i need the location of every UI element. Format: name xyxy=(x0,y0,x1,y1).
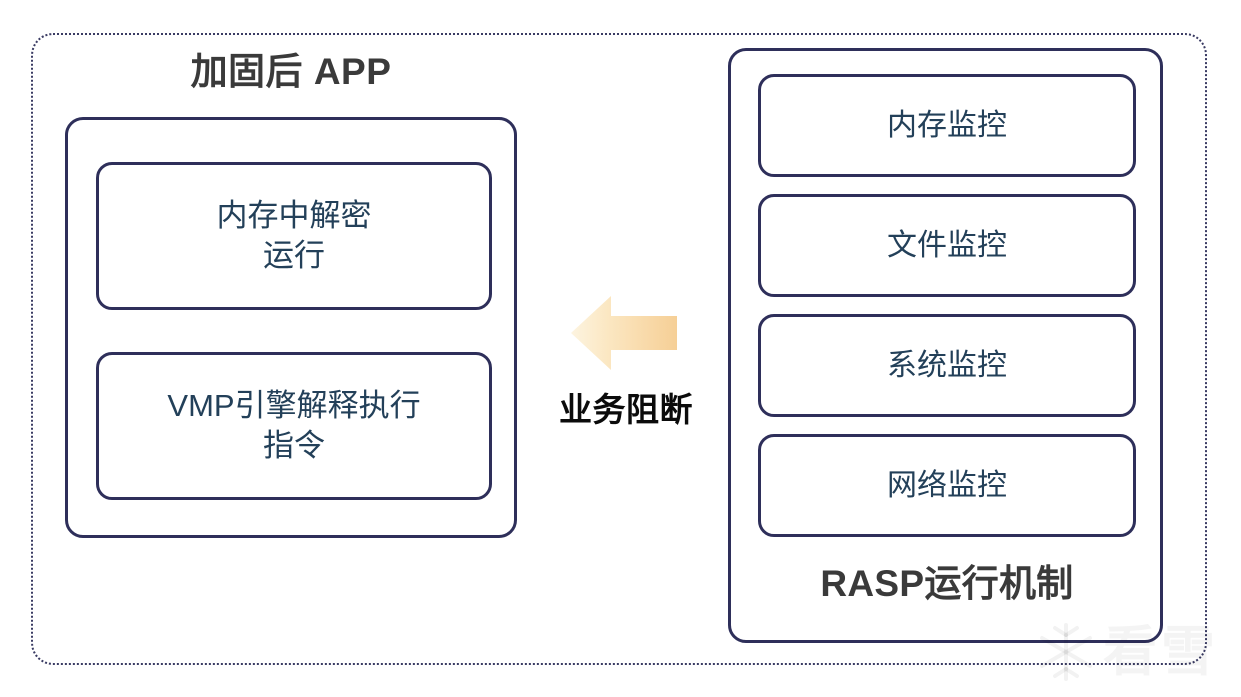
card-memory-decrypt[interactable]: 内存中解密 运行 xyxy=(96,162,492,310)
card-file-monitor[interactable]: 文件监控 xyxy=(758,194,1136,297)
card-memory-monitor-label: 内存监控 xyxy=(887,108,1007,144)
card-network-monitor[interactable]: 网络监控 xyxy=(758,434,1136,537)
connector-label: 业务阻断 xyxy=(531,383,721,431)
card-memory-monitor[interactable]: 内存监控 xyxy=(758,74,1136,177)
left-arrow-icon xyxy=(571,294,677,372)
right-section-title: RASP运行机制 xyxy=(758,553,1136,607)
card-vmp-engine[interactable]: VMP引擎解释执行 指令 xyxy=(96,352,492,500)
card-system-monitor[interactable]: 系统监控 xyxy=(758,314,1136,417)
rasp-panel: 内存监控 文件监控 系统监控 网络监控 RASP运行机制 xyxy=(728,48,1163,643)
card-vmp-engine-label: VMP引擎解释执行 指令 xyxy=(155,386,432,465)
card-network-monitor-label: 网络监控 xyxy=(887,468,1007,504)
hardened-app-panel: 内存中解密 运行 VMP引擎解释执行 指令 xyxy=(65,117,517,538)
diagram-canvas: 加固后 APP 内存中解密 运行 VMP引擎解释执行 指令 业务阻断 内存监控 … xyxy=(0,0,1241,697)
card-system-monitor-label: 系统监控 xyxy=(887,348,1007,384)
card-file-monitor-label: 文件监控 xyxy=(887,228,1007,264)
left-section-title: 加固后 APP xyxy=(65,52,517,93)
card-memory-decrypt-label: 内存中解密 运行 xyxy=(205,196,384,275)
